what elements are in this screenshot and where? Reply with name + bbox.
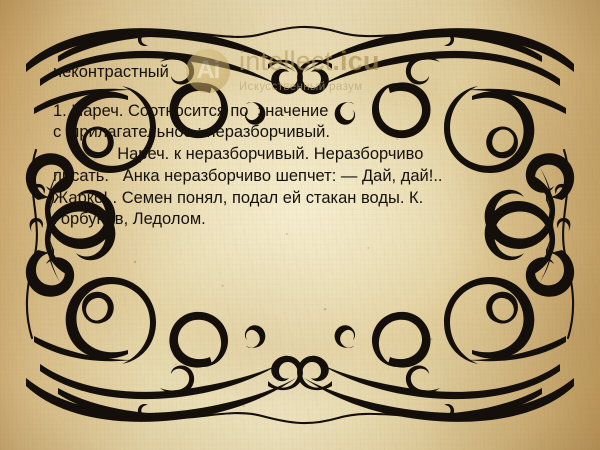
dictionary-entry: неконтрастный 1. Нареч. Соотносится по з…: [53, 62, 547, 231]
entry-definition-text: 1. Нареч. Соотносится по значение с прил…: [53, 101, 547, 232]
headword: неконтрастный: [53, 62, 547, 83]
parchment-card: Ai intellect.icu Искусственный разум нек…: [0, 0, 600, 450]
